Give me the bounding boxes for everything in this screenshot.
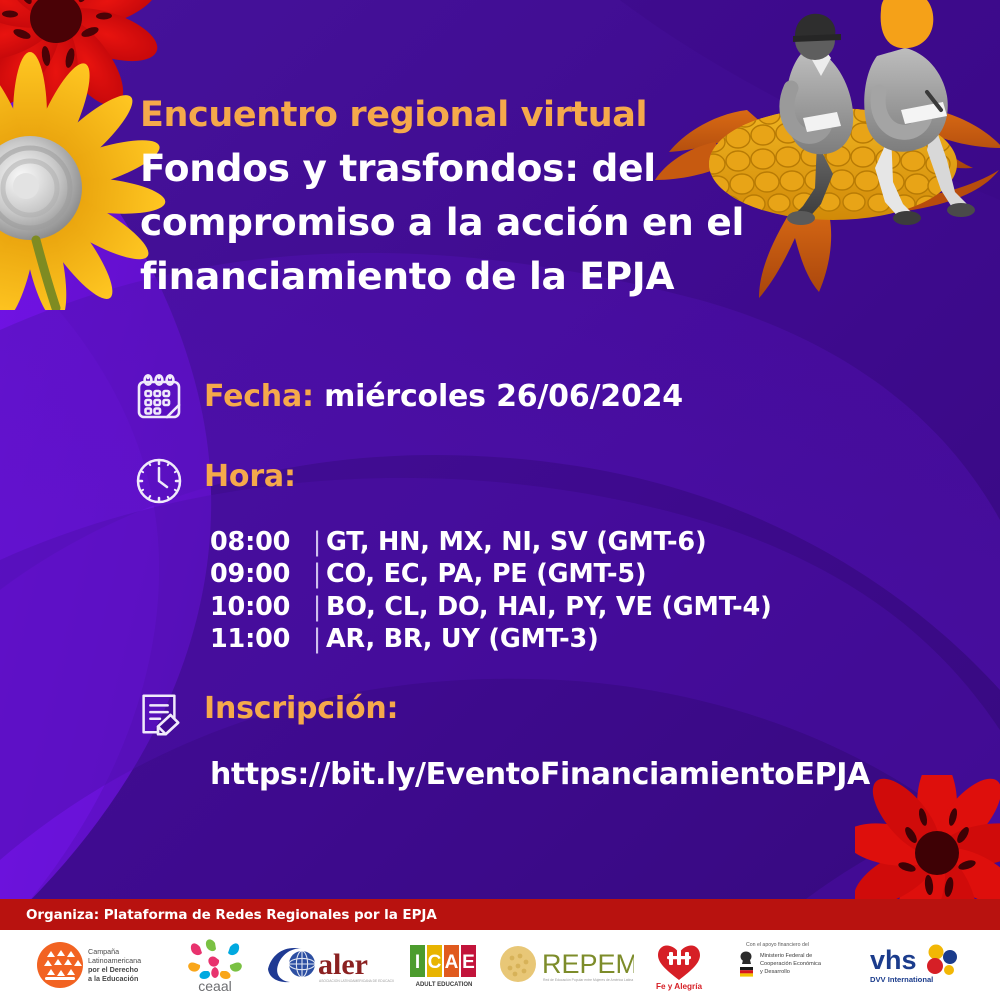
timezone-value: GT, HN, MX, NI, SV (GMT-6) [326, 526, 948, 558]
fecha-value: miércoles 26/06/2024 [324, 379, 683, 414]
vhs-wordmark: vhs [870, 945, 917, 975]
clade-text-line-2: Latinoamericana [88, 956, 141, 965]
row-separator: | [308, 591, 326, 623]
repem-logo: REPEM Red de Educación Popular entre Muj… [498, 930, 634, 1000]
title-line-2: compromiso a la acción en el [140, 195, 700, 249]
detail-row-fecha: Fecha: miércoles 26/06/2024 [128, 366, 948, 428]
icae-letter-4: E [462, 952, 475, 973]
time-value: 08:00 [210, 526, 308, 558]
fecha-label: Fecha: [204, 379, 314, 414]
repem-tagline: Red de Educación Popular entre Mujeres d… [543, 978, 634, 982]
fe-y-alegria-logo: Fe y Alegría [648, 930, 710, 1000]
icae-logo: I C A E ADULT EDUCATION [406, 930, 482, 1000]
event-details: Fecha: miércoles 26/06/2024 Hora: [128, 366, 948, 792]
table-row: 10:00 | BO, CL, DO, HAI, PY, VE (GMT-4) [210, 591, 948, 623]
headline-block: Encuentro regional virtual Fondos y tras… [140, 96, 700, 303]
icae-tagline: ADULT EDUCATION [416, 982, 473, 988]
organiza-bar: Organiza: Plataforma de Redes Regionales… [0, 899, 1000, 930]
document-pencil-icon [128, 683, 190, 745]
icae-letter-1: I [415, 952, 420, 973]
row-separator: | [308, 623, 326, 655]
bmz-ministry-logo: Con el apoyo financiero del Ministerio F… [722, 930, 854, 1000]
icae-letter-2: C [428, 952, 442, 973]
title-line-1: Fondos y trasfondos: del [140, 141, 700, 195]
page-title: Fondos y trasfondos: del compromiso a la… [140, 141, 700, 303]
ceaal-wordmark: ceaal [198, 978, 231, 993]
repem-wordmark: REPEM [542, 949, 634, 979]
detail-row-inscripcion: Inscripción: [128, 683, 948, 745]
timezone-table: 08:00 | GT, HN, MX, NI, SV (GMT-6) 09:00… [210, 526, 948, 655]
bmz-text-line-3: y Desarrollo [760, 969, 790, 975]
title-line-3: financiamiento de la EPJA [140, 249, 700, 303]
icae-letter-3: A [445, 952, 459, 973]
aler-wordmark: aler [318, 948, 368, 981]
bmz-text-line-2: Cooperación Económica [760, 961, 822, 967]
fe-y-alegria-wordmark: Fe y Alegría [656, 982, 703, 991]
timezone-value: AR, BR, UY (GMT-3) [326, 623, 948, 655]
hora-body: Hora: [190, 450, 948, 494]
hora-label: Hora: [204, 459, 948, 494]
time-value: 11:00 [210, 623, 308, 655]
aler-logo: aler ASOCIACION LATINOAMERICANA DE EDUCA… [266, 930, 394, 1000]
clade-logo: Campaña Latinoamericana por el Derecho a… [32, 930, 160, 1000]
fecha-line: Fecha: miércoles 26/06/2024 [204, 379, 948, 414]
row-separator: | [308, 526, 326, 558]
time-value: 09:00 [210, 558, 308, 590]
fecha-body: Fecha: miércoles 26/06/2024 [190, 366, 948, 414]
table-row: 09:00 | CO, EC, PA, PE (GMT-5) [210, 558, 948, 590]
aler-tagline: ASOCIACION LATINOAMERICANA DE EDUCACION … [319, 979, 394, 983]
clade-text-line-1: Campaña [88, 947, 119, 956]
timezone-value: CO, EC, PA, PE (GMT-5) [326, 558, 948, 590]
row-separator: | [308, 558, 326, 590]
inscripcion-body: Inscripción: [190, 683, 948, 726]
event-kicker: Encuentro regional virtual [140, 96, 700, 135]
organiza-text: Organiza: Plataforma de Redes Regionales… [0, 907, 437, 923]
vhs-tagline: DVV International [870, 975, 933, 984]
table-row: 08:00 | GT, HN, MX, NI, SV (GMT-6) [210, 526, 948, 558]
bmz-text-line-1: Ministerio Federal de [760, 953, 812, 959]
calendar-icon [128, 366, 190, 428]
timezone-value: BO, CL, DO, HAI, PY, VE (GMT-4) [326, 591, 948, 623]
poster-content: Encuentro regional virtual Fondos y tras… [0, 0, 1000, 1000]
sponsor-logo-bar: Campaña Latinoamericana por el Derecho a… [0, 930, 1000, 1000]
clock-icon [128, 450, 190, 512]
clade-text-line-4: a la Educación [88, 974, 138, 983]
time-value: 10:00 [210, 591, 308, 623]
vhs-dvv-logo: vhs DVV International [868, 930, 972, 1000]
bmz-support-note: Con el apoyo financiero del [746, 942, 809, 948]
clade-text-line-3: por el Derecho [88, 965, 139, 974]
inscripcion-label: Inscripción: [204, 691, 948, 726]
registration-url[interactable]: https://bit.ly/EventoFinanciamientoEPJA [210, 757, 948, 792]
table-row: 11:00 | AR, BR, UY (GMT-3) [210, 623, 948, 655]
event-poster: Encuentro regional virtual Fondos y tras… [0, 0, 1000, 1000]
detail-row-hora: Hora: [128, 450, 948, 512]
ceaal-logo: ceaal [182, 930, 248, 1000]
